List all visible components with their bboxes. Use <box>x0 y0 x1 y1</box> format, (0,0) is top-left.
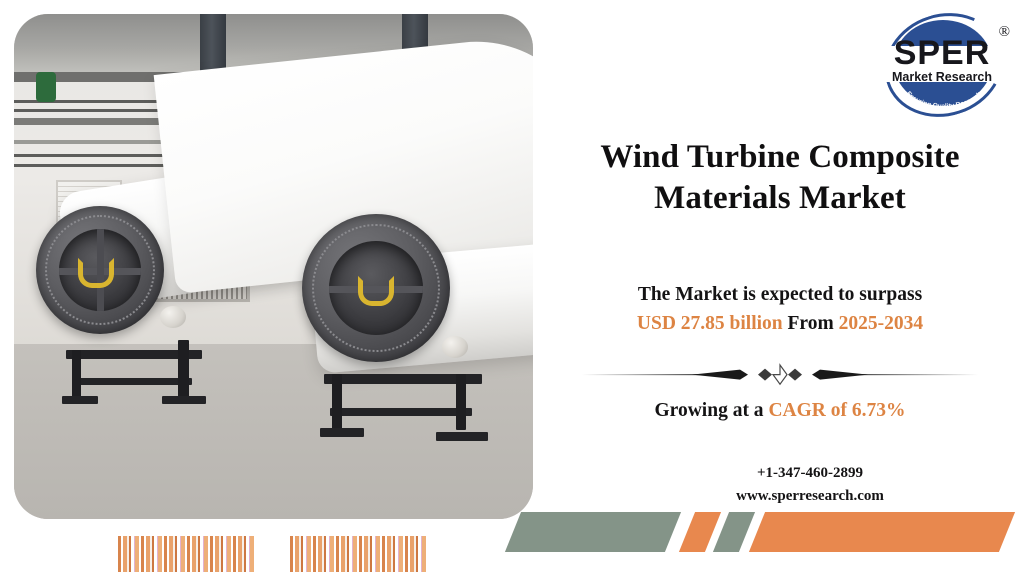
stand-front-foot-right <box>436 432 488 441</box>
market-statement-line-1: The Market is expected to surpass <box>545 281 1015 309</box>
title-line-2: Materials Market <box>545 178 1015 219</box>
phone-number[interactable]: +1-347-460-2899 <box>600 462 1020 485</box>
from-word: From <box>788 313 834 334</box>
registered-trademark-icon: ® <box>999 24 1010 41</box>
barcode-left <box>118 536 256 572</box>
stand-foot-left <box>62 396 98 404</box>
accent-bar-green-wide <box>505 512 681 552</box>
page-title: Wind Turbine Composite Materials Market <box>545 137 1015 219</box>
bottom-accent-bars <box>505 512 1024 560</box>
cagr-label: CAGR of <box>768 400 847 421</box>
blade-root-flange-rear <box>36 206 164 334</box>
svg-text:Ensuring Quality Research: Ensuring Quality Research <box>905 90 984 108</box>
stand-front-leg-left <box>332 374 342 430</box>
cagr-statement: Growing at a CAGR of 6.73% <box>545 400 1015 422</box>
forecast-period: 2025-2034 <box>839 313 924 334</box>
stand-front-leg-right <box>456 374 466 430</box>
blade-root-flange-front <box>302 214 450 362</box>
stand-rail-mid <box>72 378 192 385</box>
cagr-value: 6.73% <box>852 400 906 421</box>
yellow-lifting-hook-rear <box>78 258 114 288</box>
blade-stand-front <box>324 358 482 444</box>
decorative-barcodes <box>118 536 428 572</box>
green-fixture-left <box>36 72 56 102</box>
logo-wordmark: SPER <box>878 36 1006 70</box>
stand-foot-right <box>162 396 206 404</box>
stand-front-foot-left <box>320 428 364 437</box>
stand-leg-left <box>72 350 81 398</box>
yellow-lifting-hook-front <box>358 276 394 306</box>
report-cover: SPER Market Research Ensuring Quality Re… <box>0 0 1024 577</box>
stand-leg-right <box>178 340 189 400</box>
title-line-1: Wind Turbine Composite <box>545 137 1015 178</box>
accent-bar-orange-wide <box>749 512 1015 552</box>
barcode-right <box>290 536 428 572</box>
blade-stand-rear <box>66 332 202 406</box>
sper-logo[interactable]: SPER Market Research Ensuring Quality Re… <box>878 8 1012 112</box>
market-value: USD 27.85 billion <box>637 313 783 334</box>
support-roller-rear <box>160 306 186 328</box>
support-roller-front <box>442 336 468 358</box>
logo-subtitle: Market Research <box>878 71 1006 84</box>
contact-block: +1-347-460-2899 www.sperresearch.com <box>600 462 1020 509</box>
market-statement-line-2: USD 27.85 billion From 2025-2034 <box>545 310 1015 338</box>
accent-bar-green-thin <box>713 512 755 552</box>
logo-curved-tagline: Ensuring Quality Research <box>900 84 988 108</box>
product-photo <box>14 14 533 519</box>
stand-front-rail-mid <box>330 408 472 416</box>
website-url[interactable]: www.sperresearch.com <box>600 485 1020 508</box>
photo-scene <box>14 14 533 519</box>
cagr-prefix: Growing at a <box>655 400 764 421</box>
ornamental-divider-icon <box>572 362 988 388</box>
